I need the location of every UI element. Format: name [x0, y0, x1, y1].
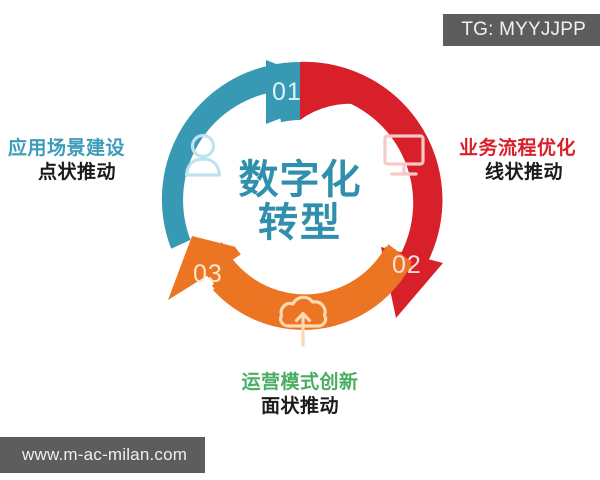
- step-label-02-subtitle: 线状推动: [459, 160, 589, 184]
- step-label-03-title: 运营模式创新: [241, 371, 358, 393]
- telegram-watermark-badge: TG: MYYJJPP: [443, 14, 600, 46]
- site-watermark-text: www.m-ac-milan.com: [22, 445, 187, 465]
- telegram-watermark-text: TG: MYYJJPP: [461, 19, 586, 41]
- diagram-canvas: 数字化 转型 01 02 03 应用场景建设 点状推动 业务流程优化 线状推动 …: [0, 0, 600, 480]
- step-label-03-subtitle: 面状推动: [0, 394, 600, 418]
- step-number-03: 03: [193, 262, 223, 287]
- step-label-02: 业务流程优化 线状推动: [459, 136, 589, 185]
- step-label-02-title: 业务流程优化: [459, 137, 576, 159]
- step-label-01-subtitle: 点状推动: [8, 160, 146, 184]
- site-watermark-badge: www.m-ac-milan.com: [0, 437, 205, 473]
- step-label-01: 应用场景建设 点状推动: [8, 136, 146, 185]
- ring-inner-hole: [221, 123, 379, 281]
- step-number-01: 01: [272, 80, 302, 105]
- step-number-02: 02: [392, 253, 422, 278]
- step-label-03: 运营模式创新 面状推动: [0, 370, 600, 419]
- step-label-01-title: 应用场景建设: [8, 137, 125, 159]
